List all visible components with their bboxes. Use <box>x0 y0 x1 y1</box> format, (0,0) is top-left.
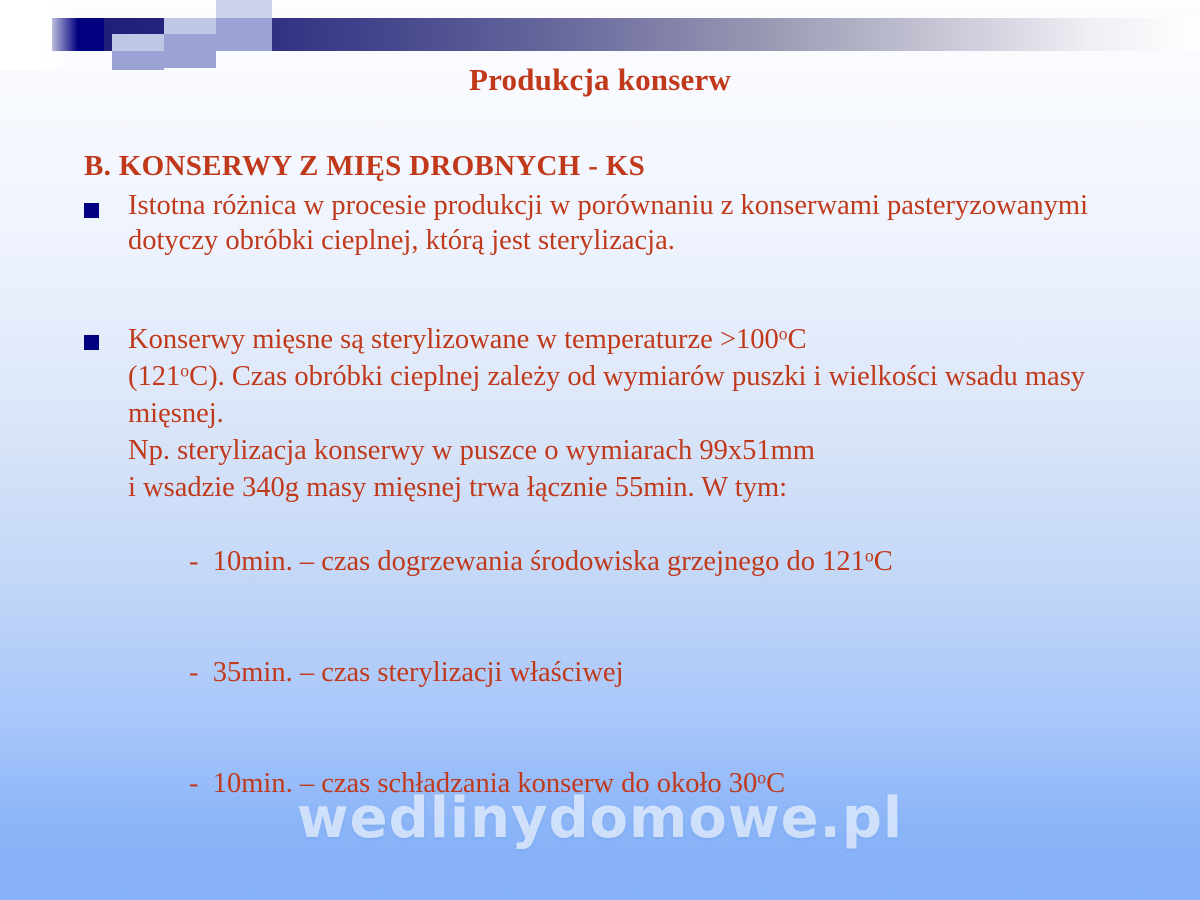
degree-symbol: o <box>757 768 766 788</box>
dash-item-text: 35min. – czas sterylizacji właściwej <box>213 657 624 688</box>
dash-list-item: - 10min. – czas schładzania konserw do o… <box>132 728 1140 839</box>
page-title: Produkcja konserw <box>0 62 1200 98</box>
section-heading: B. KONSERWY Z MIĘS DROBNYCH - KS <box>84 150 1200 183</box>
bullet-2-line1-text: Konserwy mięsne są sterylizowane w tempe… <box>128 324 779 355</box>
dash-list-item: - 10min. – czas dogrzewania środowiska g… <box>132 506 1140 617</box>
dash-list: - 10min. – czas dogrzewania środowiska g… <box>84 506 1140 839</box>
decoration-square-3 <box>216 18 272 51</box>
continuation-block: Np. sterylizacja konserwy w puszce o wym… <box>84 432 1140 506</box>
dash-item-text: 10min. – czas schładzania konserw do oko… <box>213 768 758 799</box>
dash-item-text: 10min. – czas dogrzewania środowiska grz… <box>213 546 865 577</box>
square-bullet-icon <box>84 335 99 350</box>
paragraph-spacer <box>0 259 1200 321</box>
continuation-line-2: i wsadzie 340g masy mięsnej trwa łącznie… <box>128 469 1140 506</box>
slide-canvas: Produkcja konserw B. KONSERWY Z MIĘS DRO… <box>0 0 1200 900</box>
dash-marker: - <box>189 546 199 577</box>
bullet-item-2: Konserwy mięsne są sterylizowane w tempe… <box>84 321 1140 432</box>
slide-body: B. KONSERWY Z MIĘS DROBNYCH - KS Istotna… <box>0 150 1200 839</box>
bullet-2-text: Konserwy mięsne są sterylizowane w tempe… <box>128 321 1140 432</box>
dash-list-item: - 35min. – czas sterylizacji właściwej <box>132 617 1140 728</box>
dash-item-unit: C <box>874 546 893 577</box>
bullet-1-text: Istotna różnica w procesie produkcji w p… <box>128 189 1140 259</box>
degree-symbol: o <box>779 323 788 343</box>
continuation-line-1: Np. sterylizacja konserwy w puszce o wym… <box>128 432 1140 469</box>
bullet-2-line1-unit: C <box>788 324 807 355</box>
dash-marker: - <box>189 657 199 688</box>
square-bullet-icon <box>84 203 99 218</box>
dash-item-unit: C <box>766 768 785 799</box>
degree-symbol: o <box>180 360 189 380</box>
degree-symbol: o <box>865 545 874 565</box>
bullet-2-line2-text: C). Czas obróbki cieplnej zależy od wymi… <box>128 361 1085 429</box>
bullet-2-line2-prefix: (121 <box>128 361 180 392</box>
header-band-left-fade <box>0 0 78 70</box>
dash-marker: - <box>189 768 199 799</box>
bullet-item-1: Istotna różnica w procesie produkcji w p… <box>84 189 1140 259</box>
